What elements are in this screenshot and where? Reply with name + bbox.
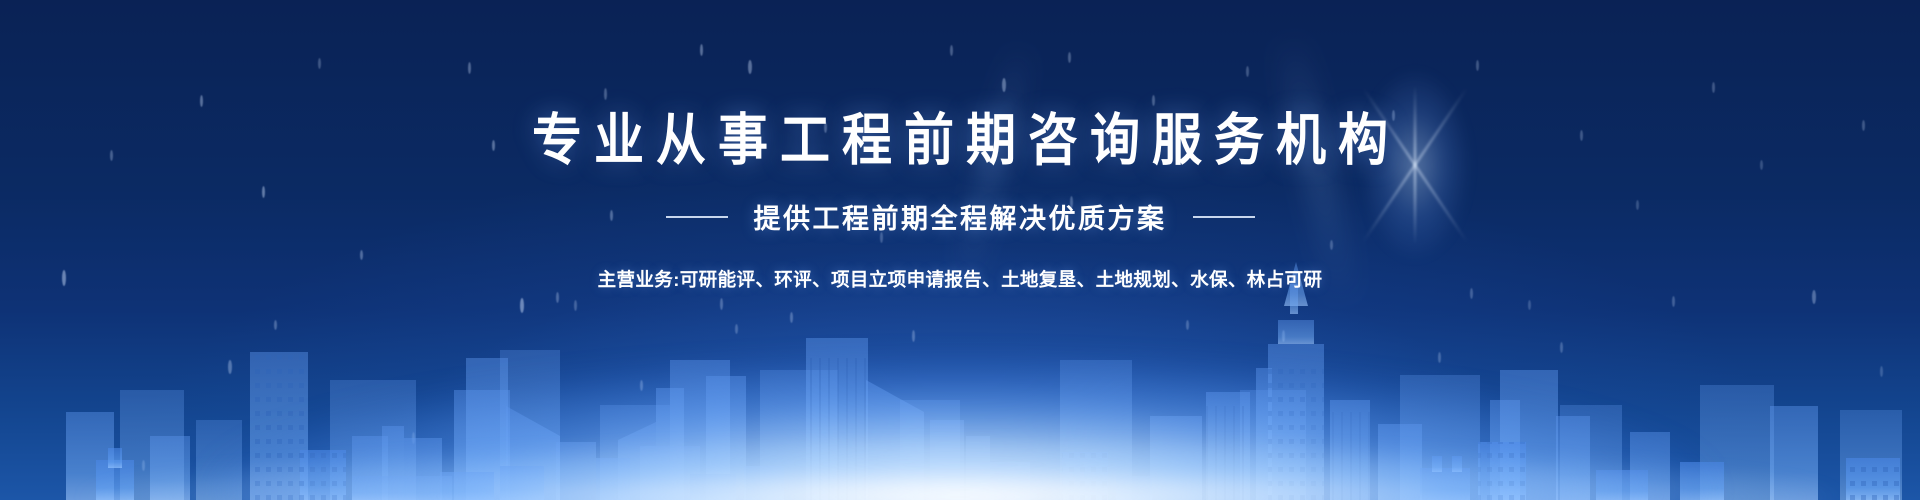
banner-headline: 专业从事工程前期咨询服务机构 <box>520 108 1400 174</box>
banner-copy: 专业从事工程前期咨询服务机构 提供工程前期全程解决优质方案 主营业务:可研能评、… <box>0 0 1920 500</box>
banner-subtitle: 提供工程前期全程解决优质方案 <box>754 197 1167 236</box>
dash-right-icon <box>1193 216 1255 218</box>
banner-services-line: 主营业务:可研能评、环评、项目立项申请报告、土地复垦、土地规划、水保、林占可研 <box>598 266 1323 292</box>
dash-left-icon <box>666 216 728 218</box>
banner-subtitle-row: 提供工程前期全程解决优质方案 <box>666 197 1255 236</box>
hero-banner: 专业从事工程前期咨询服务机构 提供工程前期全程解决优质方案 主营业务:可研能评、… <box>0 0 1920 500</box>
